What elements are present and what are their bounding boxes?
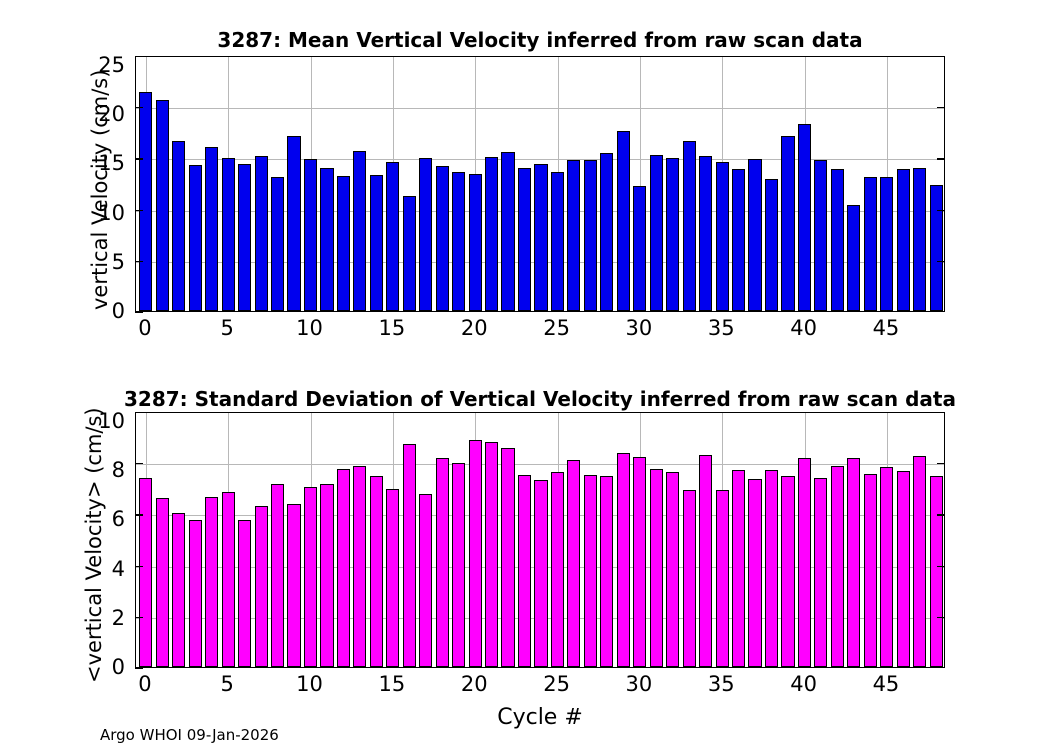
bottom-xtick-label-20: 20 [454,674,494,695]
bar [600,476,613,667]
bar [485,442,498,667]
top-plot-area [135,56,945,312]
argo-vertical-velocity-figure: 3287: Mean Vertical Velocity inferred fr… [0,0,1050,750]
bar [650,155,663,311]
bar [139,478,152,667]
bar [765,470,778,667]
bar [584,160,597,311]
bar [716,162,729,312]
bottom-xtick-label-10: 10 [290,674,330,695]
bar [633,457,646,667]
bar [650,469,663,667]
bar [633,186,646,311]
bar [781,476,794,667]
bar [485,157,498,311]
top-ytickmark-right-15 [937,158,945,159]
bar [683,141,696,311]
bar [880,467,893,667]
bar [222,158,235,311]
top-ytick-label-15: 15 [90,153,125,174]
bar [798,458,811,667]
bar [271,484,284,667]
bar [732,169,745,311]
bottom-ytickmark-4 [135,566,143,567]
bar [139,92,152,311]
bar [617,131,630,311]
bar [913,168,926,311]
bar [172,141,185,311]
top-ytickmark-25 [135,56,143,57]
top-xtick-label-0: 0 [125,318,165,339]
bar [501,448,514,667]
bar [304,159,317,311]
footer-attribution: Argo WHOI 09-Jan-2026 [100,726,279,744]
bar [897,471,910,667]
bottom-ytickmark-right-4 [937,566,945,567]
bar [353,151,366,311]
bar [205,497,218,667]
bar [436,166,449,311]
bar [222,492,235,667]
bar [337,469,350,667]
top-xtick-label-25: 25 [537,318,577,339]
bottom-ytickmark-right-6 [937,514,945,515]
bottom-ytickmark-0 [135,667,143,668]
bar [732,470,745,667]
bar [534,480,547,667]
bar [814,160,827,311]
bar [189,165,202,311]
bar [238,164,251,311]
top-xtick-label-5: 5 [207,318,247,339]
bar [189,520,202,667]
top-ytick-label-10: 10 [90,203,125,224]
bar [666,158,679,311]
top-ytickmark-right-10 [937,210,945,211]
bar [255,156,268,311]
bar [683,490,696,667]
bottom-ytickmark-2 [135,617,143,618]
bar [699,156,712,311]
bar [551,472,564,667]
bottom-xtick-label-5: 5 [207,674,247,695]
top-xtick-label-30: 30 [619,318,659,339]
bar [403,444,416,667]
bottom-ytickmark-right-8 [937,463,945,464]
top-ytickmark-10 [135,210,143,211]
top-ytick-label-20: 20 [90,104,125,125]
bottom-xtick-label-15: 15 [372,674,412,695]
bottom-ytickmark-6 [135,514,143,515]
bar [847,458,860,667]
top-ytickmark-0 [135,311,143,312]
bottom-ytick-label-4: 4 [90,559,125,580]
bar [320,168,333,311]
bottom-panel-ylabel: <vertical Velocity> (cm/s) [82,407,106,683]
bar [847,205,860,312]
bar [831,466,844,667]
bar [781,136,794,311]
bar [913,456,926,667]
bar [255,506,268,667]
bar [831,169,844,311]
bar [452,463,465,667]
bar [469,174,482,311]
bar [600,153,613,311]
bar [584,475,597,667]
bar [469,440,482,667]
top-ytick-label-0: 0 [90,301,125,322]
bar [452,172,465,311]
bottom-ytickmark-10 [135,412,143,413]
bar [716,490,729,667]
bottom-ytick-label-6: 6 [90,509,125,530]
bar [353,466,366,667]
bottom-ytick-label-0: 0 [90,657,125,678]
bar [156,100,169,311]
bar [320,484,333,667]
bar [765,179,778,311]
top-xtick-label-10: 10 [290,318,330,339]
bar [419,494,432,667]
bar [897,169,910,311]
bar [238,520,251,667]
bar [798,124,811,311]
top-ytick-label-25: 25 [90,55,125,76]
bar [748,159,761,311]
top-panel: 3287: Mean Vertical Velocity inferred fr… [0,0,1050,370]
top-ytickmark-20 [135,107,143,108]
bottom-panel-title: 3287: Standard Deviation of Vertical Vel… [35,387,1045,411]
bottom-plot-area [135,412,945,668]
bottom-panel: 3287: Standard Deviation of Vertical Vel… [0,370,1050,750]
bottom-ytickmark-right-2 [937,617,945,618]
top-panel-title: 3287: Mean Vertical Velocity inferred fr… [135,28,945,52]
bar [271,177,284,311]
bar [930,476,943,667]
bar [880,177,893,311]
bar [534,164,547,311]
bar [699,455,712,667]
bar [567,160,580,311]
bottom-ytickmark-8 [135,463,143,464]
top-xtick-label-20: 20 [454,318,494,339]
top-xtick-label-15: 15 [372,318,412,339]
bottom-xtick-label-0: 0 [125,674,165,695]
top-bars-layer [136,57,944,311]
bottom-ytick-label-2: 2 [90,608,125,629]
bar [617,453,630,667]
bar [370,175,383,311]
bottom-ytick-label-8: 8 [90,460,125,481]
top-ytick-label-5: 5 [90,252,125,273]
bottom-xtick-label-35: 35 [701,674,741,695]
bar [386,162,399,312]
top-ytickmark-right-20 [937,107,945,108]
bottom-bars-layer [136,413,944,667]
top-ytickmark-right-5 [937,261,945,262]
bar [386,489,399,667]
bar [337,176,350,311]
bottom-xtick-label-45: 45 [866,674,906,695]
bottom-xtick-label-40: 40 [784,674,824,695]
bar [864,177,877,311]
bar [567,460,580,667]
bar [551,172,564,311]
bottom-xtick-label-30: 30 [619,674,659,695]
bar [518,475,531,667]
bar [518,168,531,311]
top-ytickmark-5 [135,261,143,262]
bar [814,478,827,667]
bar [205,147,218,311]
bar [287,136,300,311]
bottom-ytick-label-10: 10 [80,411,125,432]
bar [403,196,416,311]
bar [172,513,185,667]
bar [156,498,169,667]
bar [419,158,432,311]
bar [864,474,877,667]
bar [748,479,761,667]
bar [370,476,383,667]
bar [304,487,317,667]
bottom-xtick-label-25: 25 [537,674,577,695]
top-xtick-label-45: 45 [866,318,906,339]
top-xtick-label-40: 40 [784,318,824,339]
bar [501,152,514,311]
bar [287,504,300,667]
top-xtick-label-35: 35 [701,318,741,339]
bar [930,185,943,311]
top-ytickmark-15 [135,158,143,159]
bar [436,458,449,667]
bar [666,472,679,667]
